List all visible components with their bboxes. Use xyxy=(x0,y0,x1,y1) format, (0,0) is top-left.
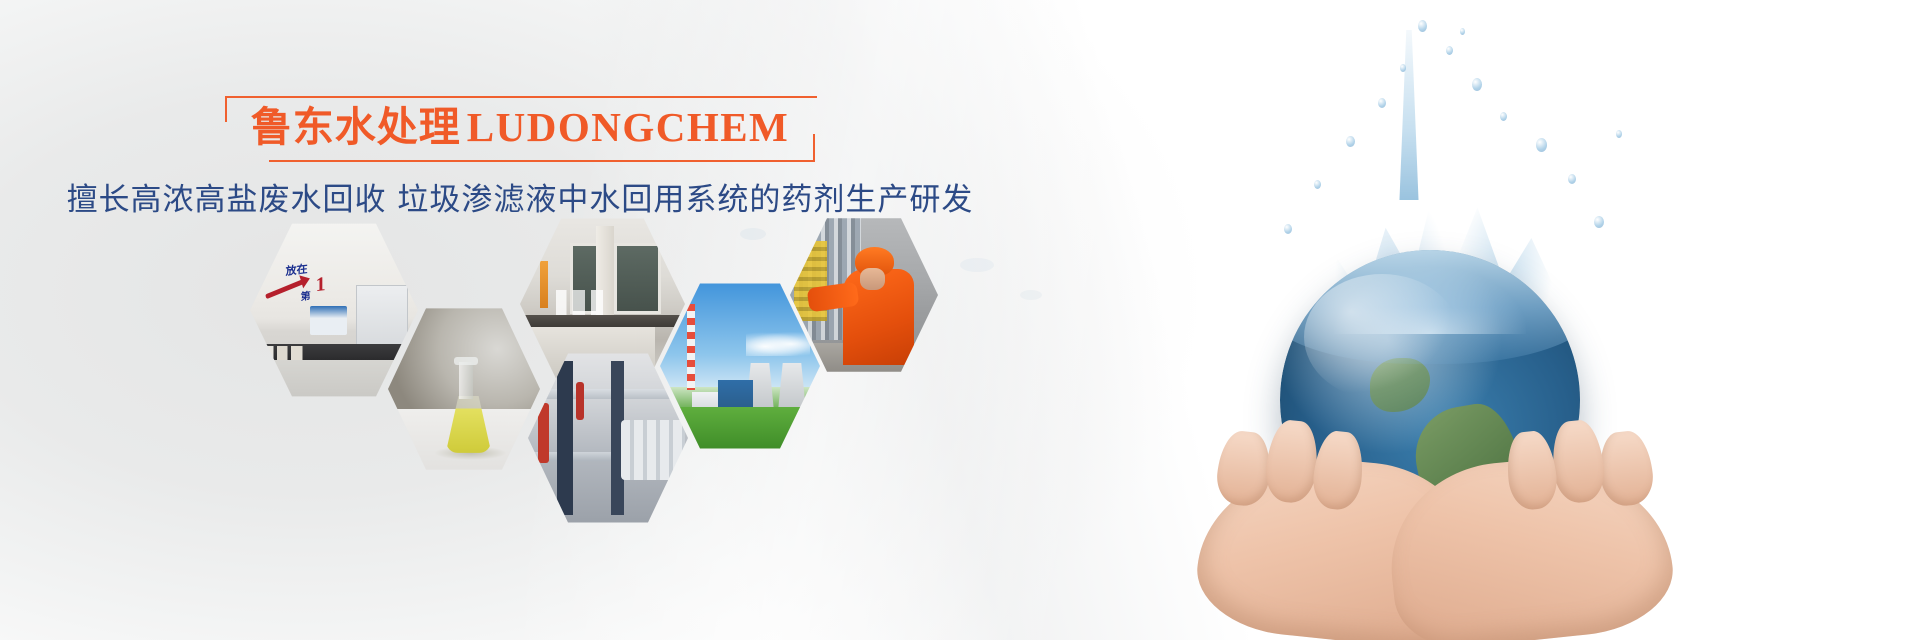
hex-photo-laboratory-interior[interactable]: 放在 第 1 xyxy=(250,220,418,400)
bracket-bottom-right xyxy=(269,134,816,162)
wall-slogan-c: 1 xyxy=(316,274,326,295)
wall-slogan: 放在 第 1 xyxy=(263,254,357,327)
title-frame: 鲁东水处理LUDONGCHEM xyxy=(225,96,816,162)
page-subtitle: 擅长高浓高盐废水回收 垃圾渗滤液中水回用系统的药剂生产研发 xyxy=(0,180,1040,220)
hexagon-photo-cluster: 放在 第 1 xyxy=(250,220,990,530)
bracket-top-left xyxy=(225,96,818,122)
hands-holding-globe xyxy=(1200,430,1670,640)
hex-photo-water-treatment-pipework[interactable] xyxy=(528,350,688,526)
wall-slogan-b: 第 xyxy=(301,286,311,302)
decorative-droplet xyxy=(1020,290,1042,300)
hero-banner: 鲁东水处理LUDONGCHEM 擅长高浓高盐废水回收 垃圾渗滤液中水回用系统的药… xyxy=(0,0,1920,640)
water-globe-artwork xyxy=(1130,0,1770,640)
hex-photo-conical-flask-sample[interactable] xyxy=(388,305,540,473)
headline-block: 鲁东水处理LUDONGCHEM 擅长高浓高盐废水回收 垃圾渗滤液中水回用系统的药… xyxy=(0,96,1040,220)
